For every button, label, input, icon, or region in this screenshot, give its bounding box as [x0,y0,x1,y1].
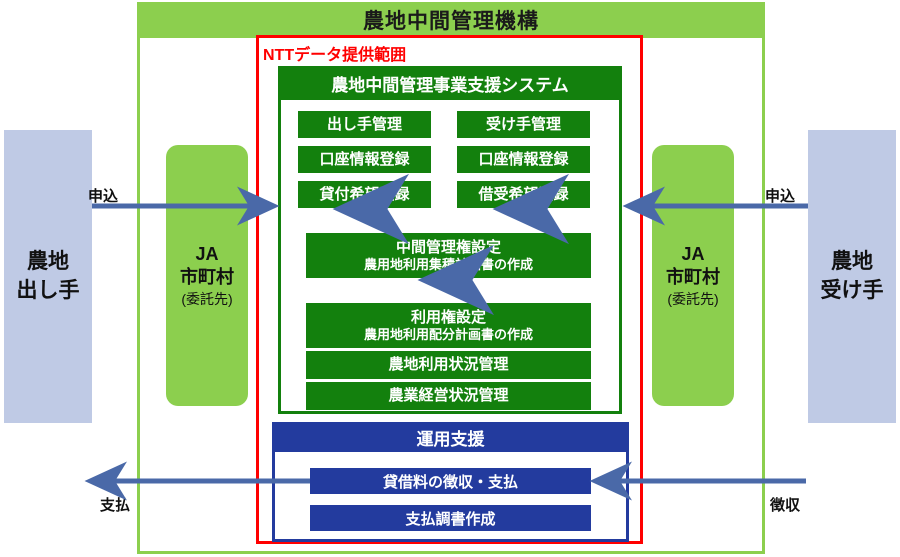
delegate-panel-left[interactable]: JA 市町村 (委託先) [166,145,248,406]
ops-box-payment-record[interactable]: 支払調書作成 [310,505,591,531]
system-box-usage-right-setting[interactable]: 利用権設定 農用地利用配分計画書の作成 [306,303,591,348]
diagram-canvas: 農地中間管理機構 NTTデータ提供範囲 農地中間管理事業支援システム 出し手管理… [0,0,900,557]
party-line-2: 受け手 [821,277,884,305]
party-line-2: 出し手 [17,277,80,305]
process-line-1: 農地利用状況管理 [388,356,508,374]
flow-label-collect-right: 徴収 [770,494,800,515]
system-box-account-registration-right[interactable]: 口座情報登録 [457,146,590,173]
flow-label-apply-right: 申込 [765,185,795,206]
party-line-1: 農地 [27,248,69,276]
operations-title: 運用支援 [272,422,629,452]
process-line-1: 農業経営状況管理 [388,387,508,405]
delegate-line-3: (委託先) [181,290,232,308]
delegate-line-2: 市町村 [666,266,720,289]
party-line-1: 農地 [831,248,873,276]
process-line-1: 利用権設定 [411,309,486,327]
delegate-line-2: 市町村 [180,266,234,289]
system-box-land-usage-status[interactable]: 農地利用状況管理 [306,351,591,379]
flow-label-apply-left: 申込 [88,185,118,206]
ntt-scope-label: NTTデータ提供範囲 [263,41,406,65]
ops-box-rent-collection-payment[interactable]: 貸借料の徴収・支払 [310,468,591,494]
organization-title: 農地中間管理機構 [137,2,765,38]
flow-label-payment-left: 支払 [100,494,130,515]
system-box-account-registration-left[interactable]: 口座情報登録 [298,146,431,173]
delegate-line-3: (委託先) [667,290,718,308]
party-panel-land-receiver[interactable]: 農地 受け手 [808,130,896,423]
system-title: 農地中間管理事業支援システム [278,66,622,100]
process-line-1: 中間管理権設定 [396,239,501,257]
process-line-2: 農用地利用集積計画書の作成 [364,257,533,272]
party-panel-land-provider[interactable]: 農地 出し手 [4,130,92,423]
system-box-deliverer-management[interactable]: 出し手管理 [298,111,431,138]
system-box-intermediate-management-right[interactable]: 中間管理権設定 農用地利用集積計画書の作成 [306,233,591,278]
system-box-lending-request[interactable]: 貸付希望登録 [298,181,431,208]
delegate-panel-right[interactable]: JA 市町村 (委託先) [652,145,734,406]
process-line-2: 農用地利用配分計画書の作成 [364,327,533,342]
system-box-borrowing-request[interactable]: 借受希望登録 [457,181,590,208]
delegate-line-1: JA [195,243,218,266]
delegate-line-1: JA [681,243,704,266]
system-box-farm-management-status[interactable]: 農業経営状況管理 [306,382,591,410]
system-box-receiver-management[interactable]: 受け手管理 [457,111,590,138]
